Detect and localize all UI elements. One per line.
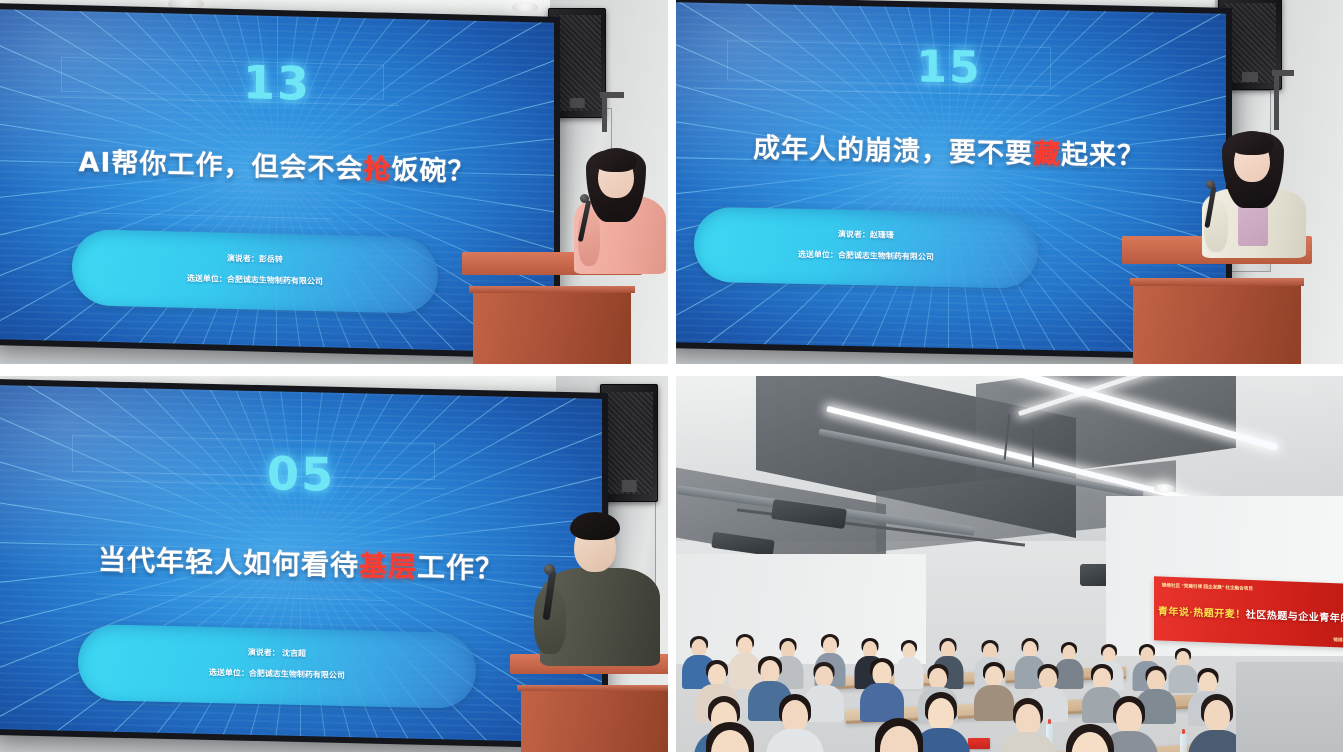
- slide-title-part-a: 当代年轻人如何看待: [98, 544, 359, 583]
- banner-title-rest: 社区热题与企业青年的思想共: [1246, 609, 1343, 625]
- slide-title-part-a: AI帮你工作，但会不会: [79, 147, 364, 185]
- table-nameplate: [968, 738, 990, 749]
- microphone-head-icon: [580, 194, 589, 203]
- speaker-info-pill-2: 演说者：赵珊珊 选送单位：合肥诚志生物制药有限公司: [694, 207, 1037, 289]
- slide-title-part-c: 起来？: [1061, 140, 1145, 173]
- podium-band: [1130, 278, 1305, 286]
- presenter-1: [572, 140, 668, 270]
- hanging-cable: [1032, 428, 1034, 468]
- attendee-head: [985, 666, 1003, 687]
- podium-band: [517, 685, 668, 691]
- attendee: [852, 718, 946, 752]
- presenter-2: [1198, 128, 1308, 252]
- slide-title-highlight: 藏: [1033, 139, 1061, 171]
- speaker-org-line-2: 选送单位：合肥诚志生物制药有限公司: [694, 247, 1037, 265]
- attendee-head: [1147, 670, 1165, 691]
- presenter-hair-3: [570, 512, 620, 540]
- slide-title-part-c: 工作？: [417, 551, 504, 586]
- attendee-head: [1016, 704, 1041, 735]
- attendee: [1044, 724, 1136, 752]
- microphone-head-icon: [544, 564, 555, 575]
- slide-title-part-a: 成年人的崩溃，要不要: [753, 133, 1033, 170]
- attendee-head: [761, 660, 780, 683]
- floor: [1236, 662, 1343, 752]
- panel-audience-4: 锦绣社区 “党建引领 园企发展” 社企融合项目 青年说·热题开麦！社区热题与企业…: [676, 376, 1343, 752]
- ceiling-light-icon: [512, 2, 538, 13]
- speaker-info-pill-1: 演说者：彭岳转 选送单位：合肥诚志生物制药有限公司: [72, 229, 438, 314]
- speaker-org-line-3: 选送单位：合肥诚志生物制药有限公司: [78, 664, 475, 684]
- podium-body: [521, 686, 668, 752]
- wall-speaker-3: [600, 384, 658, 502]
- speaker-mount-bracket-2: [1274, 74, 1279, 130]
- attendee-head: [1039, 668, 1057, 689]
- attendee-head: [708, 664, 726, 686]
- speaker-name-line-1: 演说者：彭岳转: [72, 249, 438, 269]
- attendee-head: [782, 700, 808, 732]
- audience-room: 锦绣社区 “党建引领 园企发展” 社企融合项目 青年说·热题开麦！社区热题与企业…: [676, 376, 1343, 752]
- podium-3: [510, 654, 668, 752]
- slide-title-highlight: 基层: [359, 550, 417, 584]
- presenter-fringe-1: [595, 148, 637, 172]
- attendee: [860, 658, 904, 720]
- banner-tail: 锦绣社: [1333, 637, 1343, 644]
- speaker-badge-icon: [570, 98, 585, 109]
- presenter-fringe-2: [1230, 131, 1274, 155]
- attendee-head: [823, 637, 837, 654]
- water-bottle: [1180, 734, 1187, 752]
- panel-presentation-3: 05 当代年轻人如何看待基层工作？ 演说者： 沈吉超 选送单位：合肥诚志生物制药…: [0, 376, 668, 752]
- slide-title-part-c: 饭碗？: [391, 154, 475, 187]
- attendee-head: [1093, 668, 1111, 689]
- photo-collage: 13 AI帮你工作，但会不会抢饭碗？ 演说者：彭岳转 选送单位：合肥诚志生物制药…: [0, 0, 1343, 752]
- podium-body: [1133, 282, 1300, 364]
- panel-presentation-2: 15 成年人的崩溃，要不要藏起来？ 演说者：赵珊珊 选送单位：合肥诚志生物制药有…: [676, 0, 1343, 364]
- speaker-name-line-2: 演说者：赵珊珊: [694, 226, 1037, 244]
- panel-presentation-1: 13 AI帮你工作，但会不会抢饭碗？ 演说者：彭岳转 选送单位：合肥诚志生物制药…: [0, 0, 668, 364]
- presenter-3: [534, 502, 662, 666]
- ceiling-downlight-icon: [1154, 484, 1174, 493]
- attendee-head: [929, 668, 947, 689]
- attendee-head: [815, 666, 833, 687]
- speaker-badge-icon: [622, 480, 637, 492]
- speaker-badge-icon: [1242, 72, 1258, 81]
- attendee: [682, 722, 778, 752]
- event-banner: 锦绣社区 “党建引领 园企发展” 社企融合项目 青年说·热题开麦！社区热题与企业…: [1154, 576, 1343, 647]
- banner-title: 青年说·热题开麦！社区热题与企业青年的思想共: [1158, 602, 1343, 624]
- banner-title-lead: 青年说·热题开麦！: [1158, 606, 1246, 620]
- podium-band: [469, 286, 635, 293]
- attendee-head: [873, 662, 892, 685]
- microphone-head-icon: [1206, 180, 1215, 189]
- slide-title-highlight: 抢: [363, 154, 391, 186]
- attendee-body: [860, 683, 904, 722]
- speaker-info-pill-3: 演说者： 沈吉超 选送单位：合肥诚志生物制药有限公司: [78, 624, 475, 709]
- speaker-mount-bracket-1: [602, 96, 607, 132]
- speaker-name-line-3: 演说者： 沈吉超: [78, 642, 475, 662]
- banner-subtitle: 锦绣社区 “党建引领 园企发展” 社企融合项目: [1162, 583, 1343, 596]
- speaker-org-line-1: 选送单位：合肥诚志生物制药有限公司: [72, 270, 438, 290]
- podium-body: [473, 290, 631, 364]
- attendee-head: [1199, 672, 1217, 693]
